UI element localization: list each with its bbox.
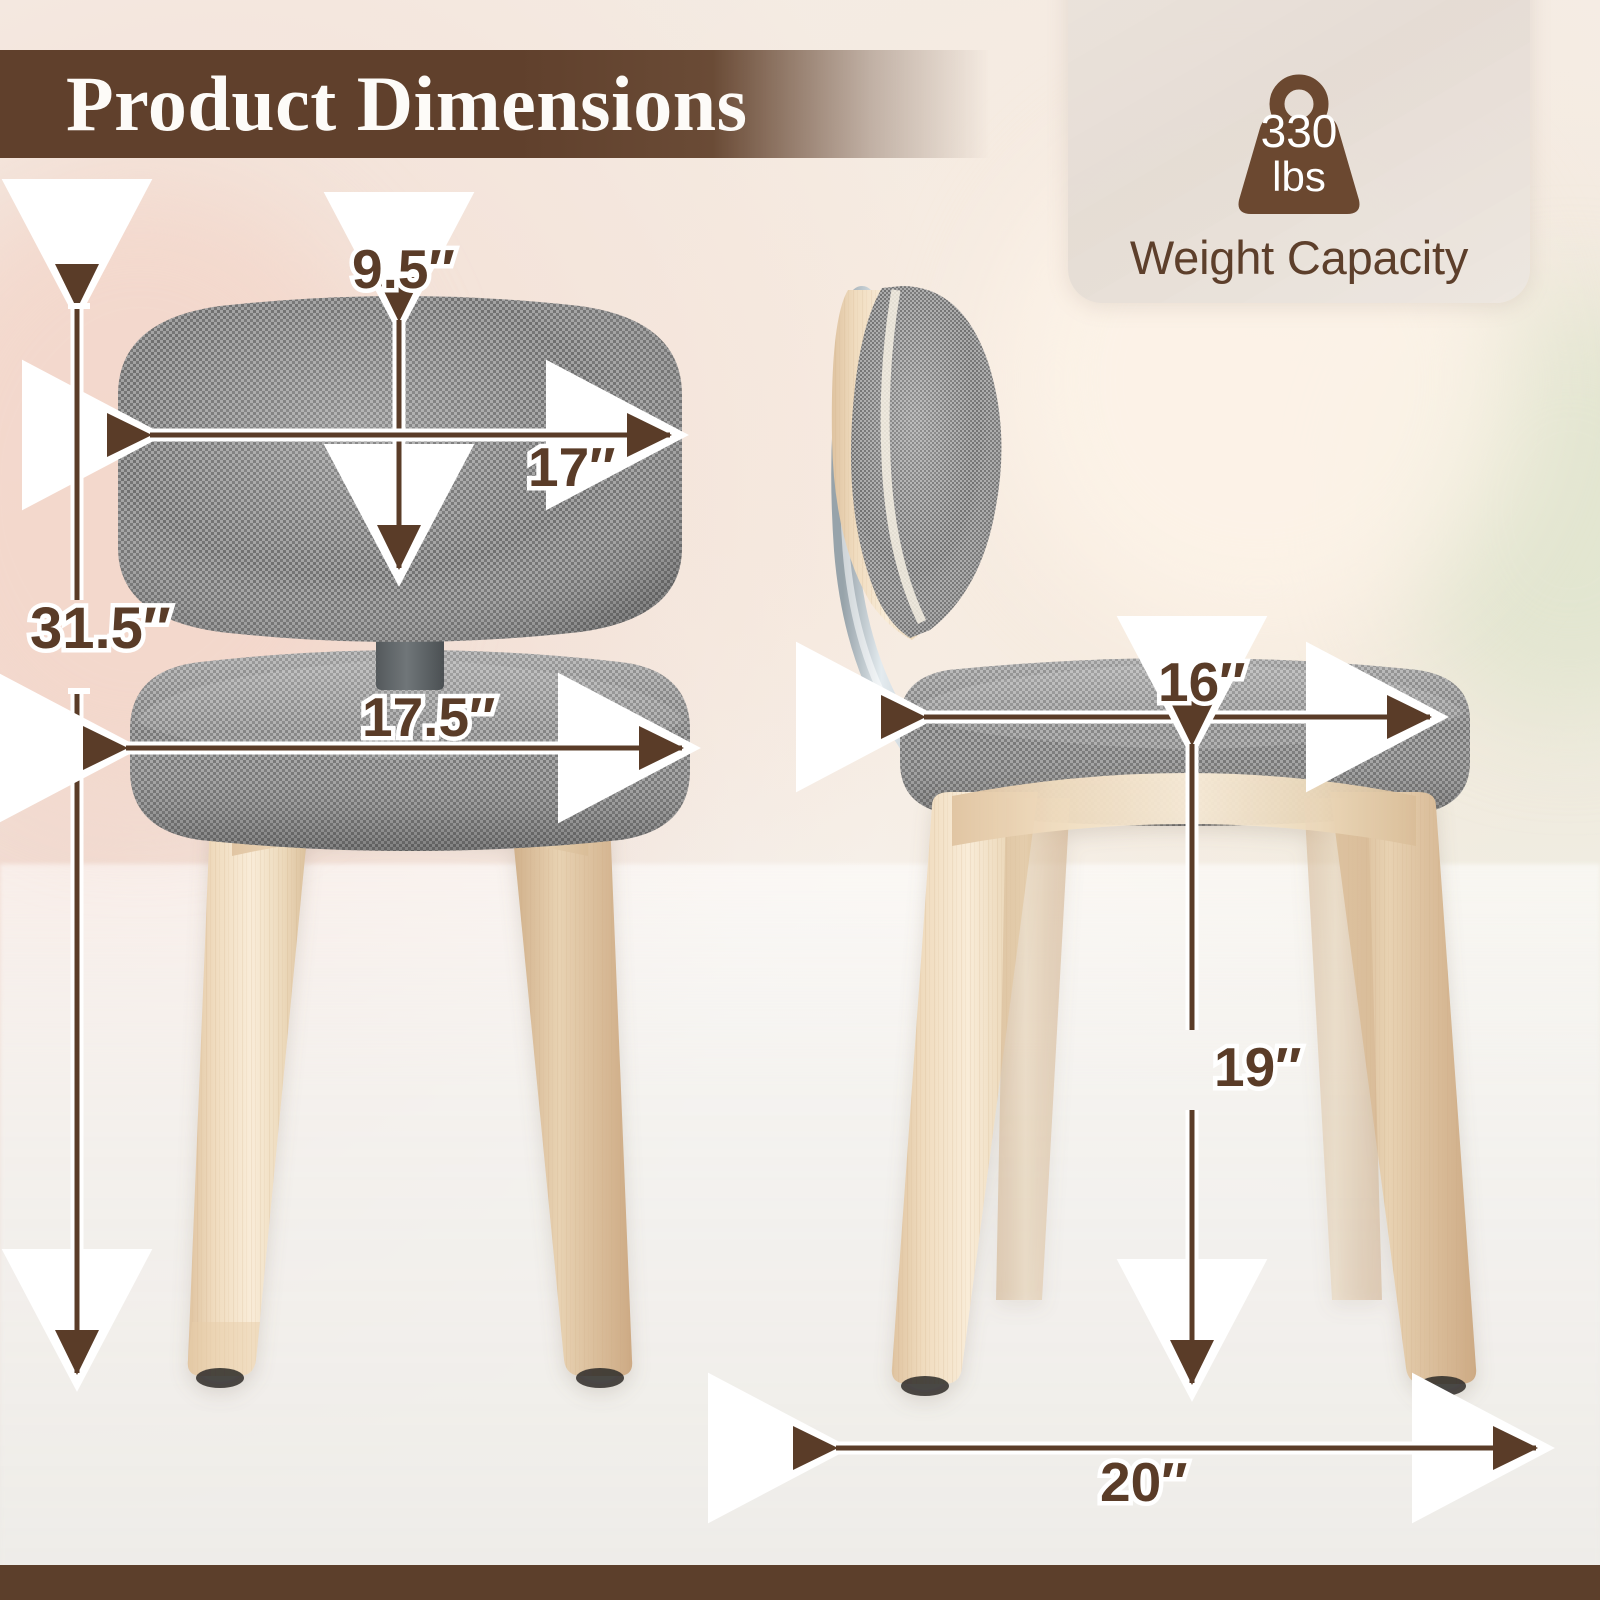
footer-bar xyxy=(0,1565,1600,1600)
page-title: Product Dimensions xyxy=(0,65,747,143)
dimension-label-total-height: 31.5″ xyxy=(30,600,171,658)
dimension-label-seat-depth: 16″ xyxy=(1158,655,1246,710)
title-banner: Product Dimensions xyxy=(0,50,990,158)
weight-kettlebell-icon: 330 lbs xyxy=(1215,74,1383,224)
dimension-label-base-depth: 20″ xyxy=(1100,1455,1188,1510)
dimension-arrow-total-height xyxy=(68,305,90,1375)
weight-capacity-label: Weight Capacity xyxy=(1130,234,1468,281)
weight-unit: lbs xyxy=(1215,156,1383,198)
product-dimensions-infographic: 9.5″ 17″ 31.5″ 17.5″ 16″ 19″ 20″ Product… xyxy=(0,0,1600,1600)
weight-value-group: 330 lbs xyxy=(1215,108,1383,198)
weight-capacity-badge: 330 lbs Weight Capacity xyxy=(1068,0,1530,303)
dimension-label-back-width: 17″ xyxy=(528,440,616,495)
dimension-label-seat-width: 17.5″ xyxy=(362,690,495,745)
dimension-label-seat-height: 19″ xyxy=(1214,1040,1302,1095)
weight-value: 330 xyxy=(1261,105,1338,157)
dimension-label-back-height: 9.5″ xyxy=(352,242,455,297)
